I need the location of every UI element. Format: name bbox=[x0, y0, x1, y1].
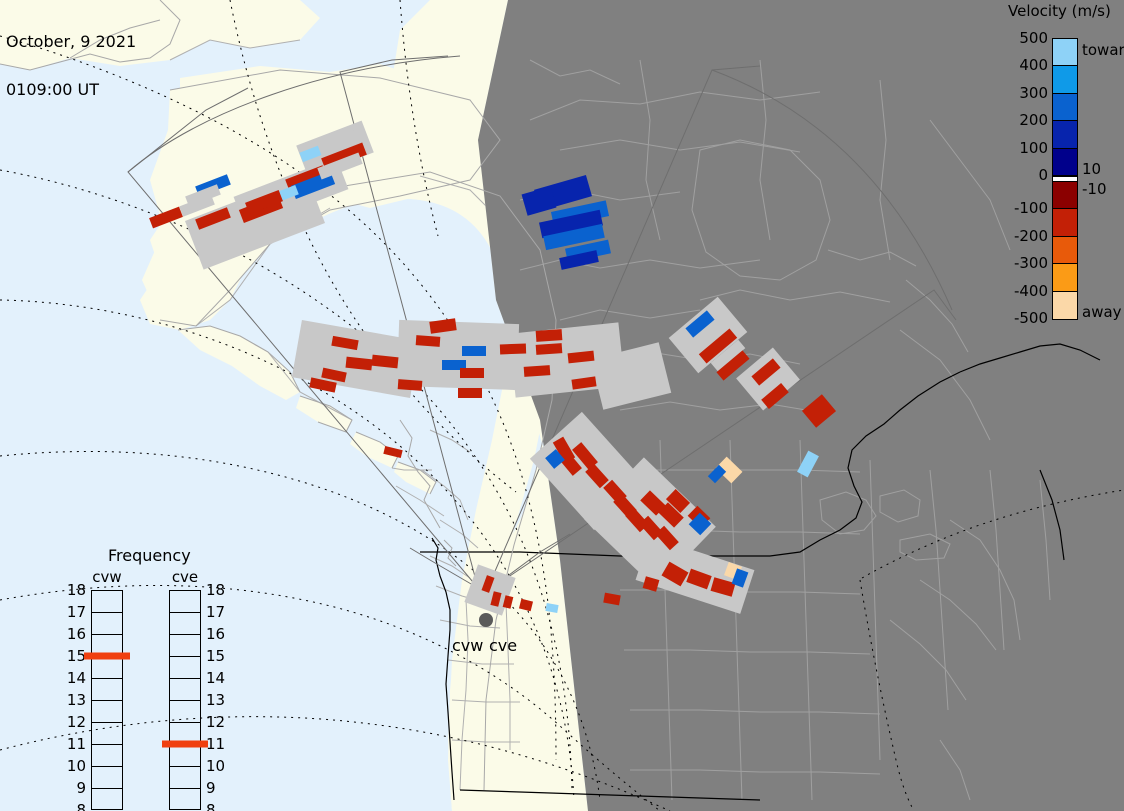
frequency-tick-cve-12: 12 bbox=[206, 713, 225, 731]
frequency-row bbox=[92, 701, 122, 723]
frequency-row bbox=[170, 613, 200, 635]
radar-cell bbox=[500, 344, 526, 355]
frequency-tick-cve-17: 17 bbox=[206, 603, 225, 621]
velocity-tick--300: -300 bbox=[1014, 254, 1048, 272]
station-label-cve: cve bbox=[489, 636, 517, 655]
frequency-row bbox=[170, 657, 200, 679]
frequency-row bbox=[170, 745, 200, 767]
title-time: 0109:00 UT bbox=[6, 82, 136, 98]
frequency-row bbox=[170, 679, 200, 701]
frequency-tick-cvw-12: 12 bbox=[67, 713, 86, 731]
frequency-tick-cve-9: 9 bbox=[206, 779, 216, 797]
frequency-gauge-cve: cve18171615141312111098 bbox=[162, 568, 208, 811]
velocity-band-2 bbox=[1053, 94, 1077, 121]
frequency-row bbox=[92, 613, 122, 635]
frequency-tick-cvw-8: 8 bbox=[76, 801, 86, 811]
velocity-band-9 bbox=[1053, 264, 1077, 291]
radar-origin-marker bbox=[479, 613, 493, 627]
frequency-tick-cvw-14: 14 bbox=[67, 669, 86, 687]
frequency-legend: Frequency cvw18171615141312111098cve1817… bbox=[84, 546, 254, 786]
velocity-away-label: away bbox=[1082, 303, 1122, 321]
frequency-tick-cvw-11: 11 bbox=[67, 735, 86, 753]
frequency-tick-cve-18: 18 bbox=[206, 581, 225, 599]
radar-cell bbox=[524, 365, 551, 377]
frequency-tick-cve-11: 11 bbox=[206, 735, 225, 753]
title-date: October, 9 2021 bbox=[6, 34, 136, 50]
frequency-gauge-name-cvw: cvw bbox=[84, 568, 130, 586]
velocity-legend: Velocity (m/s) 5004003002001000-100-200-… bbox=[1000, 0, 1124, 340]
ground-scatter-patch bbox=[397, 320, 519, 390]
frequency-row bbox=[92, 767, 122, 789]
velocity-band-10 bbox=[1053, 292, 1077, 319]
velocity-tick-100: 100 bbox=[1019, 139, 1048, 157]
velocity-tick-500: 500 bbox=[1019, 29, 1048, 47]
radar-cell bbox=[398, 379, 423, 391]
frequency-row bbox=[92, 745, 122, 767]
frequency-row bbox=[170, 789, 200, 811]
velocity-tick-300: 300 bbox=[1019, 84, 1048, 102]
velocity-colorbar bbox=[1052, 38, 1078, 320]
radar-cell bbox=[416, 335, 441, 347]
velocity-tick-0: 0 bbox=[1038, 166, 1048, 184]
velocity-toward-label: toward bbox=[1082, 41, 1124, 59]
frequency-tick-cvw-10: 10 bbox=[67, 757, 86, 775]
velocity-tick--400: -400 bbox=[1014, 282, 1048, 300]
frequency-gauge-box-cvw bbox=[91, 590, 123, 810]
frequency-tick-cvw-9: 9 bbox=[76, 779, 86, 797]
radar-cell bbox=[462, 346, 486, 356]
frequency-tick-cve-8: 8 bbox=[206, 801, 216, 811]
station-label-cvw: cvw bbox=[452, 636, 483, 655]
frequency-row bbox=[170, 635, 200, 657]
frequency-tick-cvw-16: 16 bbox=[67, 625, 86, 643]
velocity-band-4 bbox=[1053, 149, 1077, 176]
frequency-tick-cvw-13: 13 bbox=[67, 691, 86, 709]
frequency-legend-title: Frequency bbox=[108, 546, 191, 565]
velocity-band-3 bbox=[1053, 121, 1077, 148]
velocity-band-8 bbox=[1053, 237, 1077, 264]
frequency-tick-cve-15: 15 bbox=[206, 647, 225, 665]
frequency-marker-cve bbox=[162, 741, 208, 748]
velocity-band-0 bbox=[1053, 39, 1077, 66]
frequency-row bbox=[92, 657, 122, 679]
frequency-tick-cve-16: 16 bbox=[206, 625, 225, 643]
velocity-band-6 bbox=[1053, 182, 1077, 209]
velocity-tick--100: -100 bbox=[1014, 199, 1048, 217]
velocity-band-1 bbox=[1053, 66, 1077, 93]
radar-cell bbox=[460, 368, 484, 378]
velocity-legend-title: Velocity (m/s) bbox=[1008, 2, 1111, 20]
frequency-gauge-cvw: cvw18171615141312111098 bbox=[84, 568, 130, 811]
frequency-tick-cvw-17: 17 bbox=[67, 603, 86, 621]
radar-cell bbox=[536, 329, 563, 342]
frequency-marker-cvw bbox=[84, 653, 130, 660]
frequency-row bbox=[92, 789, 122, 811]
frequency-row bbox=[92, 679, 122, 701]
velocity-lower-threshold: -10 bbox=[1082, 180, 1107, 198]
frequency-row bbox=[92, 591, 122, 613]
velocity-band-7 bbox=[1053, 209, 1077, 236]
velocity-tick--200: -200 bbox=[1014, 227, 1048, 245]
radar-cell bbox=[458, 388, 482, 398]
frequency-tick-cve-13: 13 bbox=[206, 691, 225, 709]
frequency-tick-cvw-18: 18 bbox=[67, 581, 86, 599]
title-block: October, 9 2021 0109:00 UT bbox=[6, 2, 136, 130]
velocity-upper-threshold: 10 bbox=[1082, 160, 1101, 178]
frequency-tick-cve-14: 14 bbox=[206, 669, 225, 687]
radar-map-screenshot: October, 9 2021 0109:00 UT Velocity (m/s… bbox=[0, 0, 1124, 811]
velocity-tick-400: 400 bbox=[1019, 56, 1048, 74]
frequency-gauge-name-cve: cve bbox=[162, 568, 208, 586]
frequency-tick-cve-10: 10 bbox=[206, 757, 225, 775]
frequency-row bbox=[170, 591, 200, 613]
radar-cell bbox=[536, 343, 563, 355]
velocity-tick--500: -500 bbox=[1014, 309, 1048, 327]
frequency-row bbox=[92, 723, 122, 745]
velocity-tick-200: 200 bbox=[1019, 111, 1048, 129]
frequency-row bbox=[170, 701, 200, 723]
frequency-gauge-box-cve bbox=[169, 590, 201, 810]
frequency-row bbox=[170, 767, 200, 789]
